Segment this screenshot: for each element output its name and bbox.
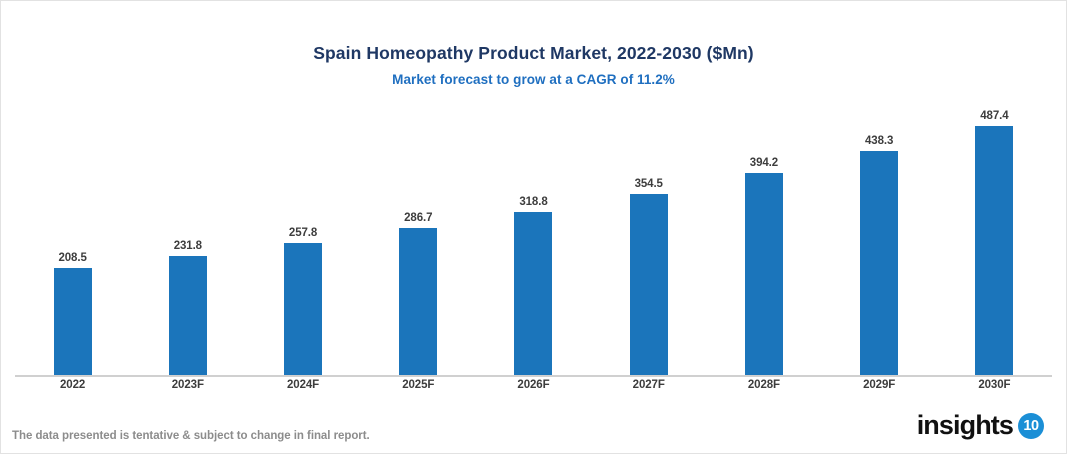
bar-slot: 354.5 — [591, 109, 706, 375]
bar-rect[interactable] — [54, 268, 92, 375]
bar-column[interactable]: 231.8 — [169, 240, 207, 375]
x-axis-tick-labels: 20222023F2024F2025F2026F2027F2028F2029F2… — [15, 379, 1052, 399]
bar-rect[interactable] — [630, 194, 668, 375]
x-axis-tick-2027F: 2027F — [591, 379, 706, 391]
bar-column[interactable]: 438.3 — [860, 135, 898, 375]
bar-rect[interactable] — [514, 212, 552, 375]
x-axis-tick-2024F: 2024F — [245, 379, 360, 391]
bar-rect[interactable] — [975, 126, 1013, 375]
bar-value-label: 354.5 — [635, 178, 663, 190]
insights10-logo: insights 10 — [917, 412, 1044, 439]
bar-value-label: 286.7 — [404, 212, 432, 224]
bar-column[interactable]: 318.8 — [514, 196, 552, 375]
bar-column[interactable]: 394.2 — [745, 157, 783, 375]
bar-value-label: 318.8 — [519, 196, 547, 208]
plot-area: 208.5 231.8 257.8 286.7 318.8 — [15, 109, 1052, 377]
x-axis-tick-2028F: 2028F — [706, 379, 821, 391]
brand-wordmark: insights — [917, 412, 1013, 439]
brand-badge-icon: 10 — [1018, 413, 1044, 439]
x-axis-tick-2023F: 2023F — [130, 379, 245, 391]
bar-slot: 394.2 — [706, 109, 821, 375]
bar-slot: 438.3 — [822, 109, 937, 375]
bar-slot: 487.4 — [937, 109, 1052, 375]
x-axis-tick-2022: 2022 — [15, 379, 130, 391]
bar-column[interactable]: 208.5 — [54, 252, 92, 375]
x-axis-tick-2026F: 2026F — [476, 379, 591, 391]
bar-value-label: 394.2 — [750, 157, 778, 169]
x-axis-tick-2025F: 2025F — [361, 379, 476, 391]
bar-rect[interactable] — [169, 256, 207, 375]
bar-rect[interactable] — [860, 151, 898, 375]
x-axis-tick-2030F: 2030F — [937, 379, 1052, 391]
chart-title: Spain Homeopathy Product Market, 2022-20… — [1, 43, 1066, 64]
bar-rect[interactable] — [284, 243, 322, 375]
bar-slot: 208.5 — [15, 109, 130, 375]
chart-subtitle: Market forecast to grow at a CAGR of 11.… — [1, 72, 1066, 88]
bar-rect[interactable] — [745, 173, 783, 375]
bar-column[interactable]: 354.5 — [630, 178, 668, 375]
bar-value-label: 438.3 — [865, 135, 893, 147]
bar-rect[interactable] — [399, 228, 437, 375]
bar-value-label: 208.5 — [58, 252, 86, 264]
bar-value-label: 487.4 — [980, 110, 1008, 122]
x-axis-tick-2029F: 2029F — [822, 379, 937, 391]
bar-slot: 257.8 — [245, 109, 360, 375]
footer-disclaimer: The data presented is tentative & subjec… — [12, 430, 370, 442]
bar-column[interactable]: 487.4 — [975, 110, 1013, 375]
title-block: Spain Homeopathy Product Market, 2022-20… — [1, 43, 1066, 88]
chart-figure: Spain Homeopathy Product Market, 2022-20… — [0, 0, 1067, 454]
x-axis-line — [15, 375, 1052, 377]
bar-slot: 318.8 — [476, 109, 591, 375]
bar-column[interactable]: 286.7 — [399, 212, 437, 375]
bar-value-label: 257.8 — [289, 227, 317, 239]
bar-column[interactable]: 257.8 — [284, 227, 322, 375]
bar-slot: 231.8 — [130, 109, 245, 375]
bar-slot: 286.7 — [361, 109, 476, 375]
bar-value-label: 231.8 — [174, 240, 202, 252]
